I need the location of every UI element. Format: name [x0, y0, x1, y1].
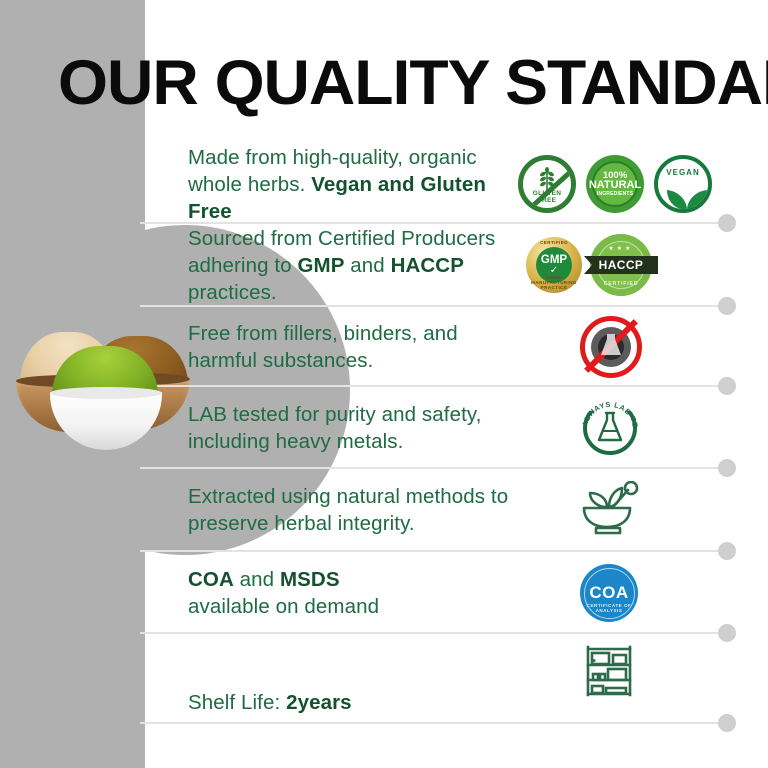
row6-line2: available on demand: [188, 595, 379, 618]
row5-line2: preserve herbal integrity.: [188, 512, 415, 535]
row-divider: [140, 722, 720, 724]
always-lab-tested-badge: ALWAYS LAB TESTED: [580, 398, 640, 458]
vegan-label: VEGAN: [658, 168, 708, 177]
vegan-badge: VEGAN: [654, 155, 712, 213]
gluten-free-label: GLUTENFREE: [523, 190, 571, 204]
standard-row-quality-source: Made from high-quality, organic whole he…: [140, 145, 728, 223]
row7-label: Shelf Life:: [188, 691, 286, 714]
row1-line2: whole herbs.: [188, 173, 311, 196]
standard-row-badges: COA CERTIFICATE OF ANALYSIS: [580, 554, 768, 632]
standard-row-coa-msds: COA and MSDS available on demand COA CER…: [140, 554, 728, 632]
100-percent-natural-badge: 100% NATURAL INGREDIENTS: [586, 155, 644, 213]
haccp-sub: CERTIFIED: [590, 281, 652, 287]
row2-line2-c: practices.: [188, 281, 277, 304]
row4-line1: LAB tested for purity and safety,: [188, 403, 482, 426]
row6-coa: COA: [188, 568, 234, 591]
row3-line2: harmful substances.: [188, 349, 373, 372]
standard-row-text: Made from high-quality, organic whole he…: [140, 144, 520, 225]
warehouse-shelf-icon: [580, 642, 638, 700]
row2-line1: Sourced from Certified Producers: [188, 227, 495, 250]
standard-row-no-fillers: Free from fillers, binders, and harmful …: [140, 309, 728, 384]
row2-haccp: HACCP: [391, 254, 464, 277]
row-divider-dot: [718, 714, 736, 732]
row-divider: [140, 632, 720, 634]
no-chemicals-icon: [580, 316, 642, 378]
standard-row-text: Free from fillers, binders, and harmful …: [140, 320, 520, 374]
haccp-label: HACCP: [599, 258, 644, 272]
row6-msds: MSDS: [280, 568, 340, 591]
gmp-arc-bottom: GOOD MANUFACTURING PRACTICE: [526, 275, 582, 290]
flask-icon: [595, 410, 625, 444]
flask-icon: [596, 332, 626, 362]
standard-row-badges: [580, 636, 768, 722]
standard-row-text: Shelf Life: 2years: [140, 689, 520, 716]
row4-line2: including heavy metals.: [188, 430, 403, 453]
row5-line1: Extracted using natural methods to: [188, 485, 508, 508]
stars-icon: ★★★: [590, 245, 652, 252]
row2-gmp: GMP: [297, 254, 344, 277]
standard-row-text: LAB tested for purity and safety, includ…: [140, 401, 520, 455]
mortar-and-pestle-icon: [576, 481, 642, 539]
haccp-ribbon: HACCP: [584, 256, 658, 274]
natural-line3: INGREDIENTS: [597, 191, 633, 197]
row2-line2-a: adhering to: [188, 254, 297, 277]
standard-row-text: COA and MSDS available on demand: [140, 566, 520, 620]
standard-row-badges: CERTIFIED GOOD MANUFACTURING PRACTICE GM…: [526, 226, 736, 304]
check-icon: ✓: [550, 266, 558, 275]
standard-row-certified-producers: Sourced from Certified Producers adherin…: [140, 226, 728, 304]
row7-value: 2years: [286, 691, 352, 714]
row-divider: [140, 385, 720, 387]
haccp-certified-badge: ★★★ HACCP CERTIFIED: [590, 234, 652, 296]
leaves-icon: [662, 182, 712, 212]
standard-row-badges: [576, 471, 768, 549]
standard-row-shelf-life: Shelf Life: 2years: [140, 636, 728, 722]
coa-sub: CERTIFICATE OF ANALYSIS: [580, 603, 638, 613]
gmp-certified-badge: CERTIFIED GOOD MANUFACTURING PRACTICE GM…: [526, 237, 582, 293]
standard-row-badges: [580, 309, 768, 384]
standard-row-badges: ALWAYS LAB TESTED: [580, 389, 768, 467]
row-divider: [140, 305, 720, 307]
row2-line2-b: and: [344, 254, 390, 277]
row-divider: [140, 467, 720, 469]
gmp-arc-top: CERTIFIED: [526, 240, 582, 245]
standard-row-natural-extraction: Extracted using natural methods to prese…: [140, 471, 728, 549]
shelf-glyph: [580, 642, 638, 700]
coa-badge: COA CERTIFICATE OF ANALYSIS: [580, 564, 638, 622]
natural-line2: NATURAL: [589, 180, 641, 191]
mortar-pestle-glyph: [576, 481, 642, 539]
row3-line1: Free from fillers, binders, and: [188, 322, 458, 345]
gluten-free-badge: GLUTENFREE: [518, 155, 576, 213]
standard-row-text: Sourced from Certified Producers adherin…: [140, 225, 520, 306]
standard-row-badges: GLUTENFREE 100% NATURAL INGREDIENTS VEGA…: [518, 145, 728, 223]
standard-row-lab-tested: LAB tested for purity and safety, includ…: [140, 389, 728, 467]
row-divider: [140, 550, 720, 552]
row6-and: and: [234, 568, 280, 591]
standard-row-text: Extracted using natural methods to prese…: [140, 483, 520, 537]
row1-line1: Made from high-quality, organic: [188, 146, 477, 169]
